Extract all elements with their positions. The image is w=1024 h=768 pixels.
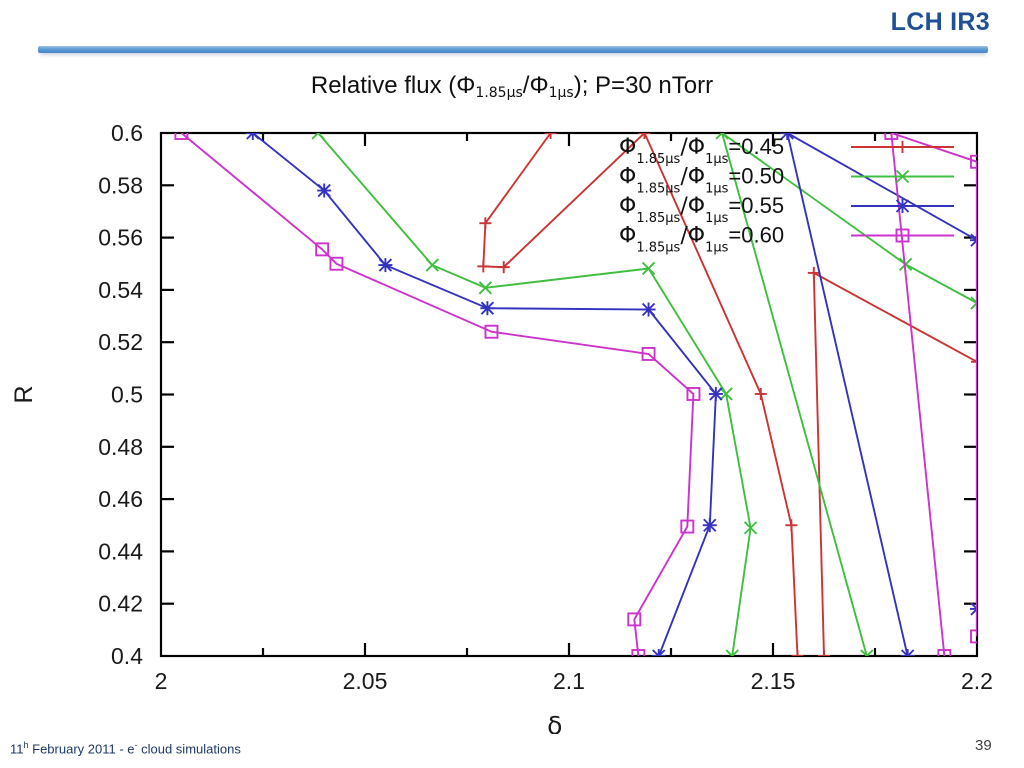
x-tick-label: 2.1 <box>553 668 585 694</box>
x-tick-label: 2.05 <box>343 668 388 694</box>
data-point-marker <box>791 650 803 662</box>
data-point-marker <box>480 301 494 315</box>
y-tick-label: 0.56 <box>98 225 143 251</box>
data-point-marker <box>477 260 489 272</box>
data-point-marker <box>317 184 331 198</box>
data-point-marker <box>703 518 717 532</box>
footer-note: 11h February 2011 - e- cloud simulations <box>10 740 241 756</box>
data-point-marker <box>901 649 915 663</box>
y-tick-label: 0.42 <box>98 591 143 617</box>
y-tick-label: 0.44 <box>98 538 143 564</box>
data-point-marker <box>709 387 723 401</box>
y-tick-label: 0.58 <box>98 172 143 198</box>
slide-header: LCH IR3 <box>0 0 1024 62</box>
x-axis-title: δmax <box>547 711 591 734</box>
data-point-marker <box>378 258 392 272</box>
series-0.60 <box>175 127 983 662</box>
chart-plot-area: 0.40.420.440.460.480.50.520.540.560.580.… <box>0 62 1024 734</box>
series-line-0.60 <box>181 133 693 656</box>
y-tick-label: 0.46 <box>98 486 143 512</box>
data-point-marker <box>818 650 830 662</box>
data-point-marker <box>785 519 797 531</box>
x-tick-label: 2.15 <box>751 668 796 694</box>
legend-label-0.50: Φ1.85µs/Φ1µs=0.50 <box>619 164 784 197</box>
y-tick-label: 0.48 <box>98 434 143 460</box>
y-tick-label: 0.52 <box>98 329 143 355</box>
y-tick-label: 0.4 <box>111 643 143 669</box>
y-tick-label: 0.5 <box>111 382 143 408</box>
data-point-marker <box>246 126 260 140</box>
series-line-0.55 <box>787 133 977 656</box>
data-point-marker <box>896 199 910 213</box>
series-0.50 <box>312 127 983 662</box>
series-line-0.45 <box>814 273 977 656</box>
y-axis-title: R <box>10 385 38 403</box>
chart-figure: Relative flux (Φ1.85µs/Φ1µs); P=30 nTorr… <box>0 62 1024 734</box>
x-tick-label: 2 <box>155 668 168 694</box>
header-divider <box>38 46 988 53</box>
page-number: 39 <box>975 737 992 754</box>
y-tick-label: 0.54 <box>98 277 143 303</box>
data-point-marker <box>426 259 438 271</box>
plot-frame <box>161 133 977 656</box>
legend-label-0.60: Φ1.85µs/Φ1µs=0.60 <box>619 223 784 256</box>
data-point-marker <box>755 388 767 400</box>
x-tick-label: 2.2 <box>961 668 993 694</box>
data-point-marker <box>897 141 909 153</box>
legend-label-0.55: Φ1.85µs/Φ1µs=0.55 <box>619 193 784 226</box>
page-title: LCH IR3 <box>891 8 990 37</box>
data-point-marker <box>642 303 656 317</box>
data-point-marker <box>652 649 666 663</box>
y-tick-label: 0.6 <box>111 120 143 146</box>
chart-legend: Φ1.85µs/Φ1µs=0.45Φ1.85µs/Φ1µs=0.50Φ1.85µ… <box>619 134 954 256</box>
